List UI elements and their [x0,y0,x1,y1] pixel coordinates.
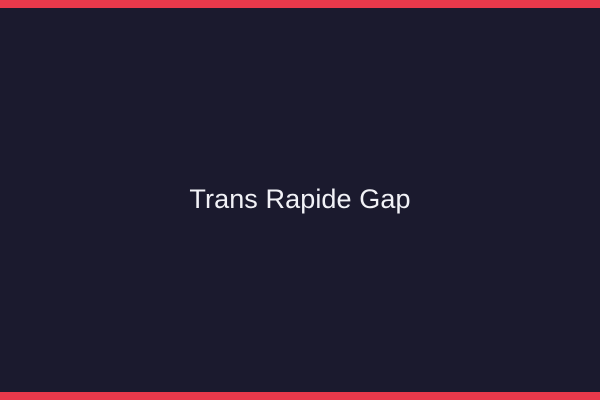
content-stage: Trans Rapide Gap [0,8,600,392]
top-accent-bar [0,0,600,8]
screen-root: Trans Rapide Gap [0,0,600,400]
page-title: Trans Rapide Gap [173,184,426,215]
bottom-accent-bar [0,392,600,400]
